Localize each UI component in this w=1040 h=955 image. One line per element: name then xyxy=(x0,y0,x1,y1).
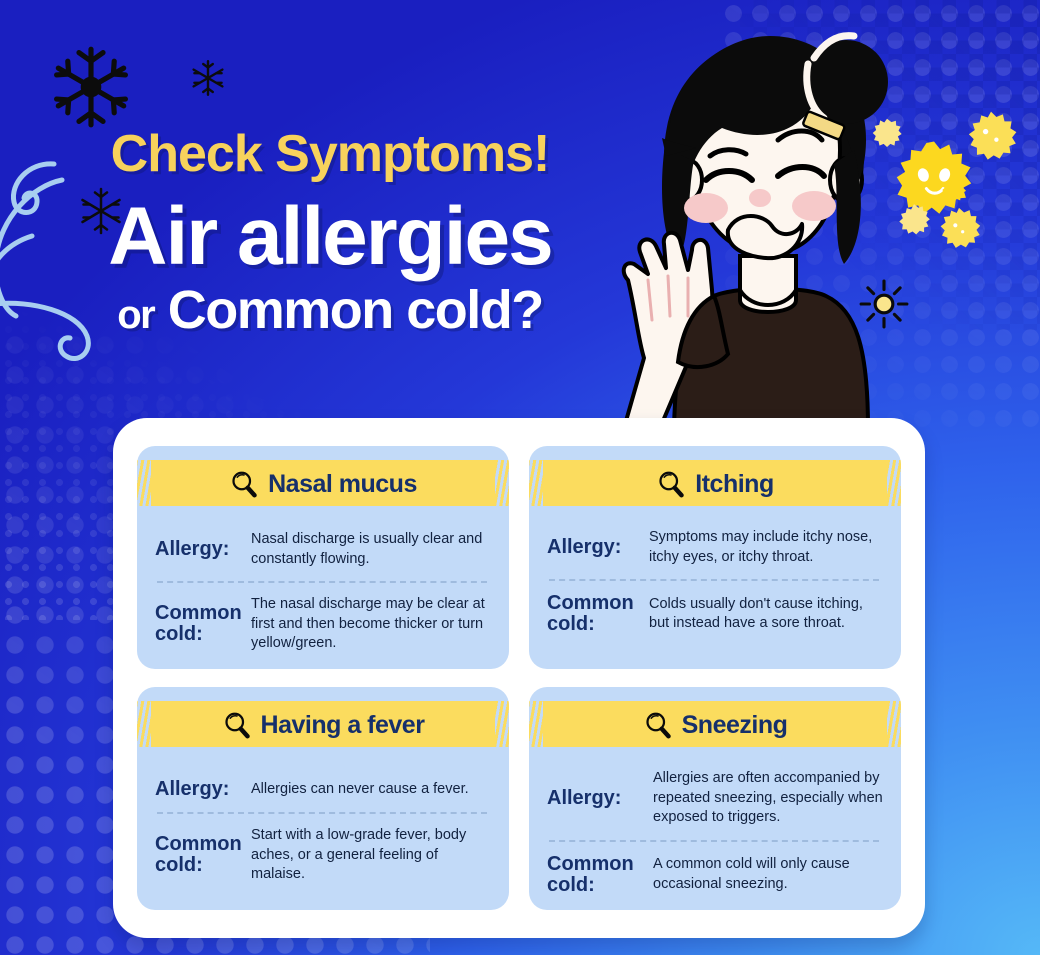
row-divider xyxy=(157,812,487,814)
common-cold-row: Common cold: Start with a low-grade feve… xyxy=(155,826,493,885)
card-banner: Nasal mucus xyxy=(151,456,495,512)
snowflake-large-icon xyxy=(48,44,134,130)
allergy-row: Allergy: Symptoms may include itchy nose… xyxy=(547,528,885,567)
common-cold-label-line2: cold: xyxy=(547,614,639,635)
magnifier-icon xyxy=(656,469,686,499)
infographic-canvas: Check Symptoms! Air allergies or Common … xyxy=(0,0,1040,955)
common-cold-label: Common cold: xyxy=(155,603,241,645)
page-subtitle: or Common cold? xyxy=(0,282,660,339)
common-cold-label-line1: Common xyxy=(547,854,643,875)
symptom-card-nasal-mucus[interactable]: Nasal mucus Allergy: Nasal discharge is … xyxy=(137,446,509,669)
subtitle-main: Common cold? xyxy=(168,280,543,340)
pollen-tiny-icon xyxy=(940,176,968,204)
row-divider xyxy=(157,581,487,583)
allergy-text: Symptoms may include itchy nose, itchy e… xyxy=(649,528,885,567)
common-cold-text: A common cold will only cause occasional… xyxy=(653,855,885,894)
pollen-small-icon xyxy=(896,202,932,238)
snowflake-small-icon xyxy=(188,58,228,98)
common-cold-label: Common cold: xyxy=(547,593,639,635)
common-cold-label-line2: cold: xyxy=(155,855,241,876)
allergy-row: Allergy: Allergies can never cause a fev… xyxy=(155,779,493,800)
common-cold-label-line2: cold: xyxy=(547,875,643,896)
common-cold-label-line1: Common xyxy=(547,593,639,614)
common-cold-label-line1: Common xyxy=(155,834,241,855)
common-cold-label-line2: cold: xyxy=(155,624,241,645)
allergy-text: Allergies are often accompanied by repea… xyxy=(653,769,885,828)
card-title: Itching xyxy=(695,470,773,499)
allergy-label: Allergy: xyxy=(155,539,241,560)
allergy-text: Allergies can never cause a fever. xyxy=(251,780,469,800)
magnifier-icon xyxy=(229,469,259,499)
sparkle-burst-icon xyxy=(858,278,910,330)
common-cold-row: Common cold: The nasal discharge may be … xyxy=(155,595,493,654)
allergy-row: Allergy: Allergies are often accompanied… xyxy=(547,769,885,828)
card-title: Sneezing xyxy=(682,711,788,740)
allergy-label: Allergy: xyxy=(155,779,241,800)
symptom-card-having-a-fever[interactable]: Having a fever Allergy: Allergies can ne… xyxy=(137,687,509,910)
magnifier-icon xyxy=(643,710,673,740)
card-title: Having a fever xyxy=(261,711,425,740)
page-title: Air allergies xyxy=(0,194,660,280)
card-banner: Having a fever xyxy=(151,697,495,753)
allergy-text: Nasal discharge is usually clear and con… xyxy=(251,530,493,569)
pollen-medium-icon xyxy=(964,110,1018,164)
card-title: Nasal mucus xyxy=(268,470,417,499)
allergy-row: Allergy: Nasal discharge is usually clea… xyxy=(155,530,493,569)
common-cold-label: Common cold: xyxy=(547,854,643,896)
pollen-tiny2-icon xyxy=(870,116,904,150)
common-cold-text: Colds usually don't cause itching, but i… xyxy=(649,595,885,634)
symptoms-panel: Nasal mucus Allergy: Nasal discharge is … xyxy=(113,418,925,938)
sick-girl-illustration xyxy=(618,28,918,428)
card-banner: Itching xyxy=(543,456,887,512)
symptom-card-grid: Nasal mucus Allergy: Nasal discharge is … xyxy=(113,418,925,938)
common-cold-label: Common cold: xyxy=(155,834,241,876)
row-divider xyxy=(549,840,879,842)
symptom-card-sneezing[interactable]: Sneezing Allergy: Allergies are often ac… xyxy=(529,687,901,910)
allergy-label: Allergy: xyxy=(547,788,643,809)
subtitle-or: or xyxy=(117,293,154,337)
common-cold-label-line1: Common xyxy=(155,603,241,624)
allergy-label: Allergy: xyxy=(547,537,639,558)
row-divider xyxy=(549,579,879,581)
kicker-title: Check Symptoms! xyxy=(0,128,660,180)
pollen-medium2-icon xyxy=(936,206,982,252)
common-cold-text: The nasal discharge may be clear at firs… xyxy=(251,595,493,654)
common-cold-text: Start with a low-grade fever, body aches… xyxy=(251,826,493,885)
symptom-card-itching[interactable]: Itching Allergy: Symptoms may include it… xyxy=(529,446,901,669)
common-cold-row: Common cold: Colds usually don't cause i… xyxy=(547,593,885,635)
header-block: Check Symptoms! Air allergies or Common … xyxy=(0,128,660,339)
magnifier-icon xyxy=(222,710,252,740)
common-cold-row: Common cold: A common cold will only cau… xyxy=(547,854,885,896)
card-banner: Sneezing xyxy=(543,697,887,753)
